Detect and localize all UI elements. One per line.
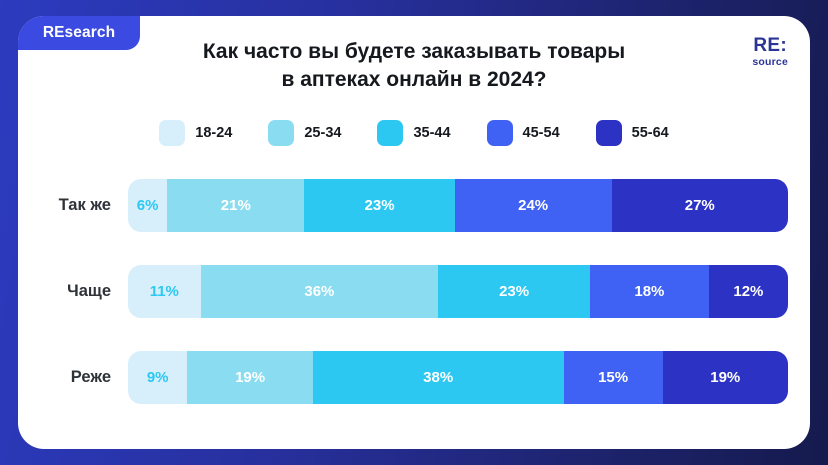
bar-segment-55-64[interactable]: 19%	[663, 351, 788, 404]
research-badge-label: REsearch	[43, 24, 115, 42]
legend-item-label: 45-54	[523, 125, 560, 141]
bar-segment-35-44[interactable]: 23%	[304, 179, 454, 232]
legend-swatch-icon	[596, 120, 622, 146]
legend-item-45-54[interactable]: 45-54	[487, 120, 560, 146]
bar-segment-35-44[interactable]: 23%	[438, 265, 590, 318]
legend-item-25-34[interactable]: 25-34	[268, 120, 341, 146]
stacked-bar: 11%36%23%18%12%	[128, 265, 788, 318]
bar-segment-18-24[interactable]: 9%	[128, 351, 187, 404]
legend-item-label: 18-24	[195, 125, 232, 141]
legend-swatch-icon	[377, 120, 403, 146]
chart-row-label: Так же	[18, 196, 128, 215]
chart-plot-area: Так же6%21%23%24%27%Чаще11%36%23%18%12%Р…	[18, 179, 810, 437]
chart-title: Как часто вы будете заказывать товары в …	[18, 38, 810, 93]
bar-segment-25-34[interactable]: 21%	[167, 179, 304, 232]
legend-swatch-icon	[268, 120, 294, 146]
chart-row: Реже9%19%38%15%19%	[18, 351, 810, 404]
bar-segment-18-24[interactable]: 6%	[128, 179, 167, 232]
resource-logo-sub: source	[752, 57, 788, 68]
legend-item-18-24[interactable]: 18-24	[159, 120, 232, 146]
chart-title-line-1: Как часто вы будете заказывать товары	[138, 38, 690, 66]
resource-logo-main: RE:	[752, 36, 788, 55]
bar-segment-55-64[interactable]: 12%	[709, 265, 788, 318]
stacked-bar: 9%19%38%15%19%	[128, 351, 788, 404]
legend-item-label: 55-64	[632, 125, 669, 141]
chart-title-line-2: в аптеках онлайн в 2024?	[138, 66, 690, 94]
chart-legend: 18-2425-3435-4445-5455-64	[18, 120, 810, 146]
legend-item-55-64[interactable]: 55-64	[596, 120, 669, 146]
bar-segment-55-64[interactable]: 27%	[612, 179, 788, 232]
legend-item-label: 35-44	[413, 125, 450, 141]
stacked-bar: 6%21%23%24%27%	[128, 179, 788, 232]
chart-row-label: Реже	[18, 368, 128, 387]
chart-row: Чаще11%36%23%18%12%	[18, 265, 810, 318]
research-badge: REsearch	[18, 16, 140, 50]
resource-logo: RE: source	[752, 36, 788, 68]
bar-segment-25-34[interactable]: 19%	[187, 351, 312, 404]
legend-item-label: 25-34	[304, 125, 341, 141]
bar-segment-25-34[interactable]: 36%	[201, 265, 439, 318]
legend-swatch-icon	[487, 120, 513, 146]
chart-card: REsearch RE: source Как часто вы будете …	[18, 16, 810, 449]
bar-segment-45-54[interactable]: 24%	[455, 179, 612, 232]
bar-segment-45-54[interactable]: 15%	[564, 351, 663, 404]
bar-segment-35-44[interactable]: 38%	[313, 351, 564, 404]
legend-item-35-44[interactable]: 35-44	[377, 120, 450, 146]
chart-row: Так же6%21%23%24%27%	[18, 179, 810, 232]
chart-row-label: Чаще	[18, 282, 128, 301]
bar-segment-18-24[interactable]: 11%	[128, 265, 201, 318]
legend-swatch-icon	[159, 120, 185, 146]
bar-segment-45-54[interactable]: 18%	[590, 265, 709, 318]
